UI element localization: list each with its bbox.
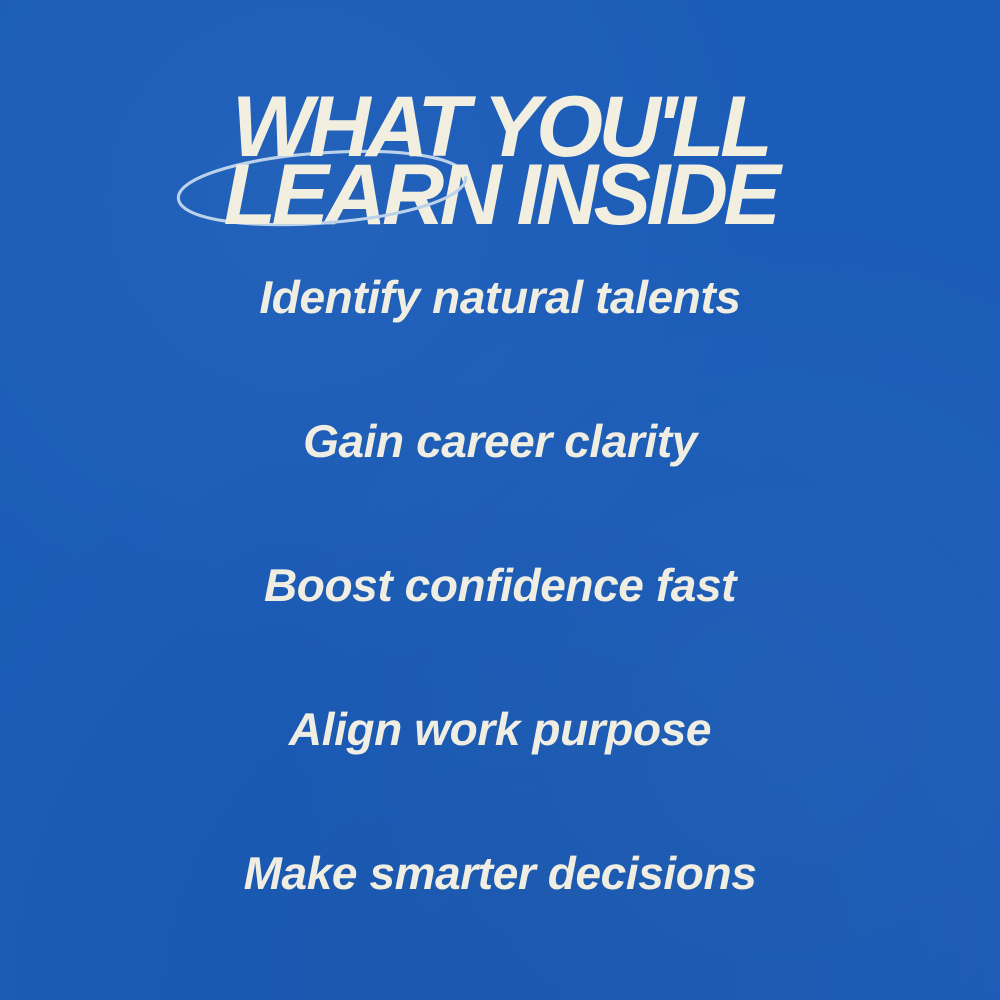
headline-block: WHAT YOU'LL LEARN INSIDE — [0, 46, 1000, 196]
list-item: Align work purpose — [0, 657, 1000, 801]
benefit-label-4: Align work purpose — [289, 706, 711, 752]
list-item: Identify natural talents — [0, 225, 1000, 369]
benefit-label-5: Make smarter decisions — [244, 850, 757, 896]
benefit-label-2: Gain career clarity — [303, 418, 697, 464]
benefit-label-1: Identify natural talents — [259, 274, 740, 320]
list-item: Make smarter decisions — [0, 801, 1000, 945]
promo-poster: WHAT YOU'LL LEARN INSIDE Identify natura… — [0, 0, 1000, 1000]
list-item: Gain career clarity — [0, 369, 1000, 513]
list-item: Boost confidence fast — [0, 513, 1000, 657]
benefits-list: Identify natural talents Gain career cla… — [0, 225, 1000, 945]
headline-graphic: WHAT YOU'LL LEARN INSIDE — [0, 46, 1000, 196]
benefit-label-3: Boost confidence fast — [264, 562, 736, 608]
